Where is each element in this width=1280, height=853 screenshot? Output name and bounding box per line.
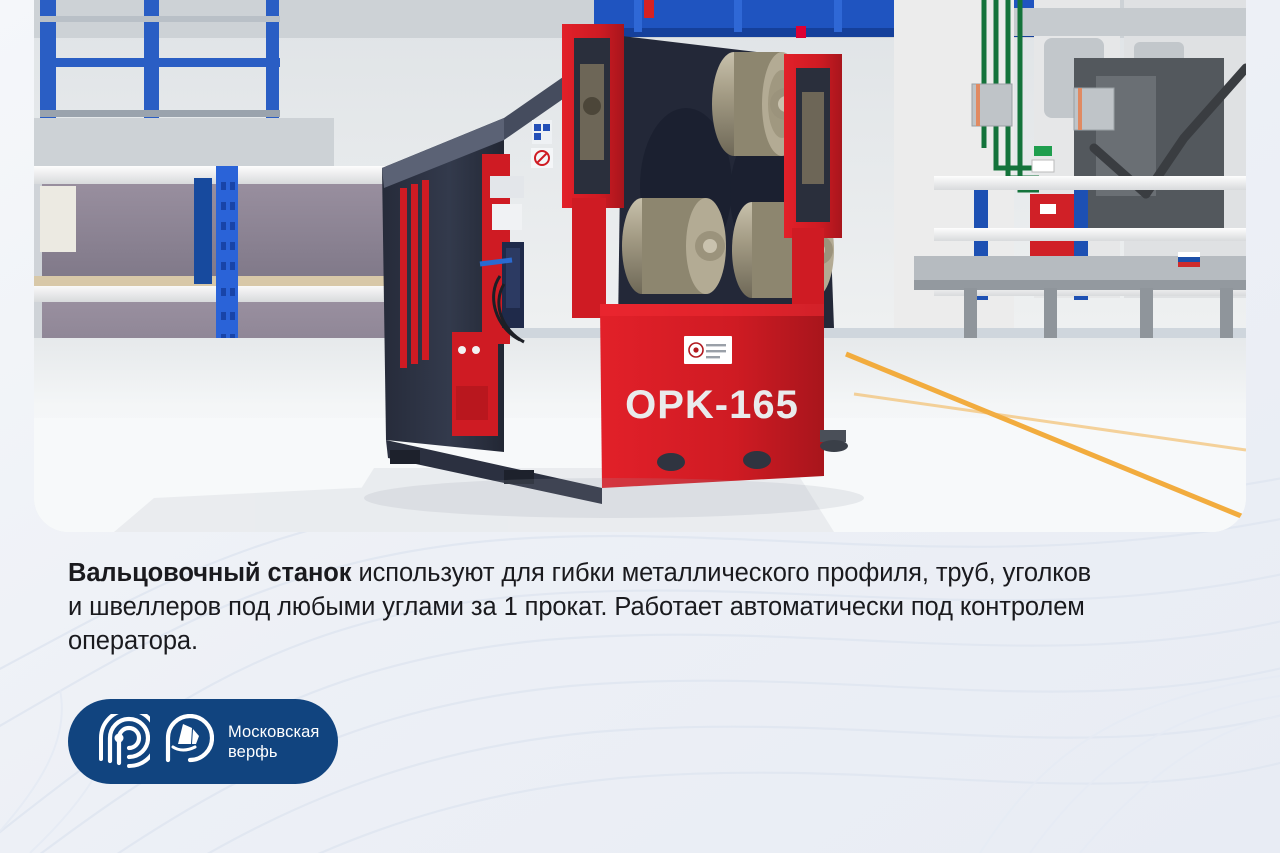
vent-strip [400, 180, 429, 368]
factory-photo-illustration: OPK-165 [34, 0, 1246, 532]
right-background [894, 0, 1246, 344]
spiral-pin-icon [88, 714, 150, 770]
machine-base-red: OPK-165 [600, 304, 824, 488]
page-caption: Вальцовочный станок используют для гибки… [68, 556, 1098, 658]
flag-decal [1178, 252, 1200, 267]
ship-sail-pin-icon [156, 714, 214, 770]
sail-glyph [178, 724, 199, 744]
roller-middle-left [622, 198, 726, 294]
brand-name: Московская верфь [228, 722, 319, 762]
brand-logo-badge[interactable]: Московская верфь [68, 699, 338, 784]
safety-stickers [531, 120, 553, 168]
caption-bold-lead: Вальцовочный станок [68, 559, 351, 587]
hero-photo-card: OPK-165 [34, 0, 1246, 532]
wave-glyph [173, 747, 195, 750]
machine-model-text: OPK-165 [625, 383, 799, 427]
